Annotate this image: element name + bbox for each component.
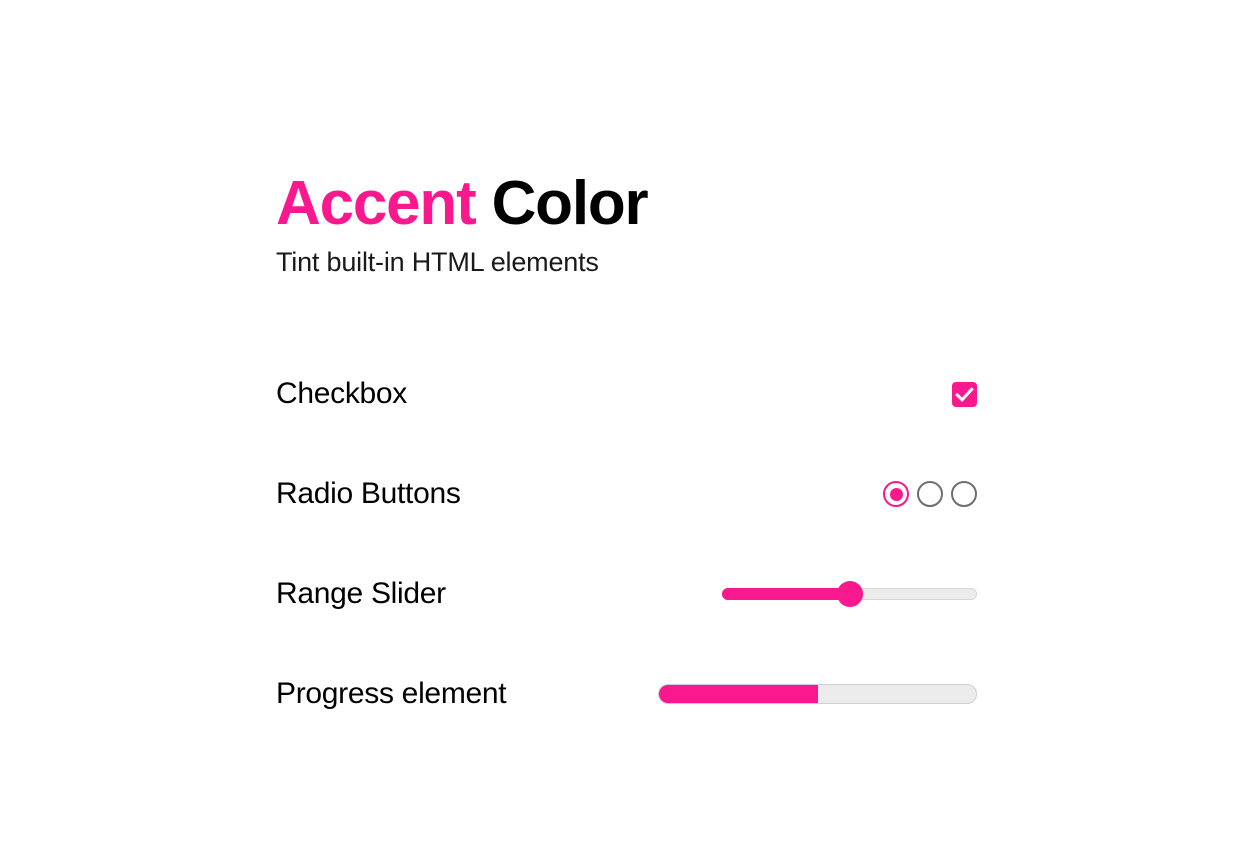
range-slider-label: Range Slider [276, 577, 446, 611]
progress-element-label: Progress element [276, 677, 506, 711]
progress-element [658, 684, 977, 704]
row-range-slider: Range Slider [276, 544, 977, 644]
radio-control-wrap [883, 481, 977, 507]
page-header: Accent Color Tint built-in HTML elements [276, 172, 978, 279]
radio-buttons-label: Radio Buttons [276, 477, 461, 511]
slider-thumb[interactable] [837, 581, 863, 607]
progress-track [658, 684, 977, 704]
slider-control-wrap [722, 581, 977, 607]
progress-fill [659, 685, 818, 703]
page-title-rest-word: Color [476, 169, 648, 238]
controls-list: Checkbox Radio Buttons Range Slide [276, 344, 977, 744]
checkbox-control-wrap [952, 382, 977, 407]
radio-option-3[interactable] [951, 481, 977, 507]
range-slider-input[interactable] [722, 581, 977, 607]
checkbox-label: Checkbox [276, 377, 407, 411]
row-radio-buttons: Radio Buttons [276, 444, 977, 544]
progress-control-wrap [658, 684, 977, 704]
radio-option-2[interactable] [917, 481, 943, 507]
row-checkbox: Checkbox [276, 344, 977, 444]
page-title: Accent Color [276, 172, 978, 236]
checkbox-input[interactable] [952, 382, 977, 407]
slider-fill [722, 588, 850, 600]
radio-option-1[interactable] [883, 481, 909, 507]
accent-color-demo-page: Accent Color Tint built-in HTML elements… [0, 0, 1254, 858]
page-title-accent-word: Accent [276, 169, 476, 238]
radio-group [883, 481, 977, 507]
page-subtitle: Tint built-in HTML elements [276, 247, 978, 278]
check-icon [952, 382, 977, 407]
row-progress-element: Progress element [276, 644, 977, 744]
